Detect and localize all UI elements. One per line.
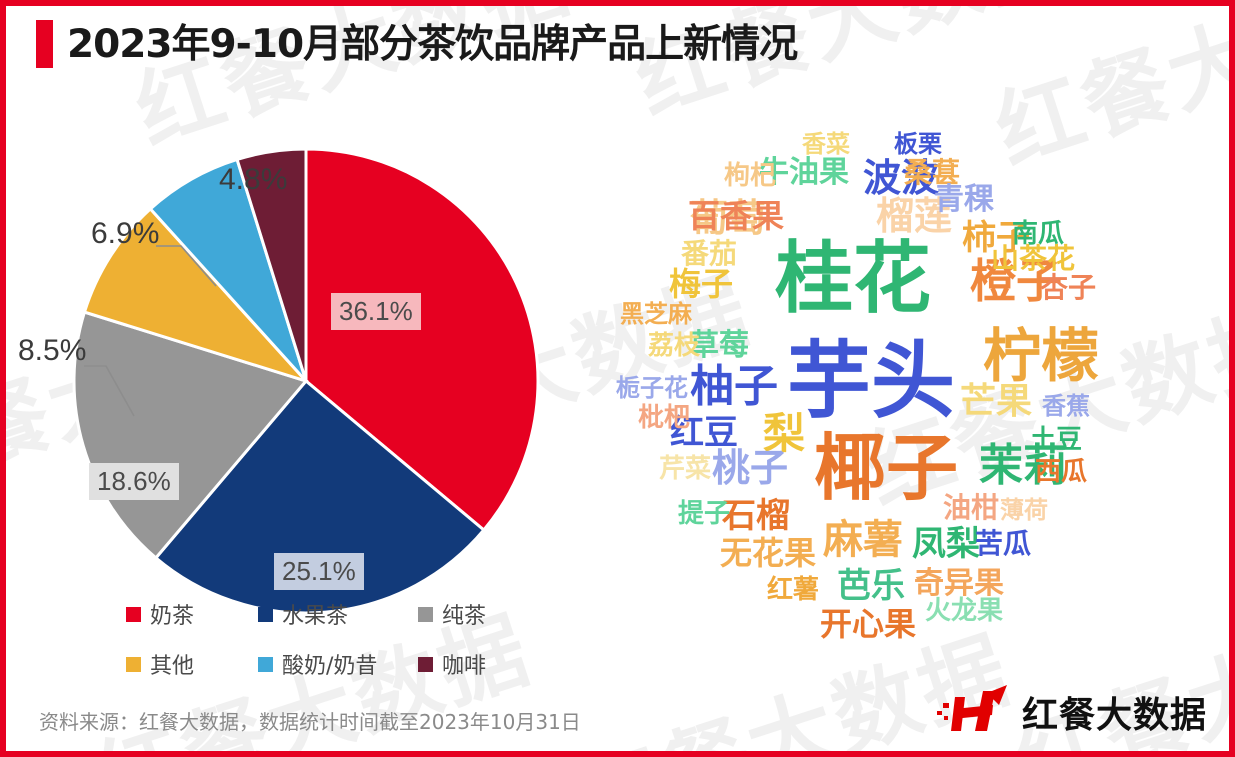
legend-label: 水果茶 — [282, 598, 348, 630]
word-cloud-term[interactable]: 凤梨 — [912, 527, 980, 561]
legend-swatch — [126, 657, 141, 672]
title-bar: 2023年9-10月部分茶饮品牌产品上新情况 — [36, 20, 797, 68]
word-cloud-term[interactable]: 柠檬 — [983, 327, 1099, 385]
pie-callout-label: 8.5% — [18, 334, 86, 368]
brand-logo: 红餐大数据 — [937, 683, 1207, 741]
word-cloud-term[interactable]: 油柑 — [943, 494, 999, 522]
legend-label: 咖啡 — [442, 648, 486, 680]
legend-item[interactable]: 奶茶 — [126, 598, 258, 630]
word-cloud-term[interactable]: 麻薯 — [823, 520, 903, 560]
legend-item[interactable]: 纯茶 — [418, 598, 546, 630]
word-cloud-term[interactable]: 香菜 — [802, 132, 850, 156]
source-note: 资料来源：红餐大数据，数据统计时间截至2023年10月31日 — [39, 706, 581, 735]
word-cloud-term[interactable]: 红薯 — [767, 577, 819, 603]
legend-item[interactable]: 水果茶 — [258, 598, 418, 630]
pie-chart-panel: 36.1%25.1%18.6%4.8%6.9%8.5% — [6, 81, 606, 681]
legend-swatch — [418, 607, 433, 622]
page-title: 2023年9-10月部分茶饮品牌产品上新情况 — [67, 25, 797, 64]
legend-swatch — [126, 607, 141, 622]
pie-chart-svg — [6, 81, 606, 681]
word-cloud-term[interactable]: 芋头 — [787, 339, 955, 423]
word-cloud-term[interactable]: 黑芝麻 — [620, 302, 692, 326]
word-cloud-term[interactable]: 荔枝 — [648, 333, 700, 359]
word-cloud-term[interactable]: 香蕉 — [1042, 394, 1090, 418]
word-cloud-term[interactable]: 梅子 — [669, 268, 733, 300]
pie-slice-label: 18.6% — [89, 463, 179, 500]
word-cloud-term[interactable]: 火龙果 — [925, 598, 1003, 624]
logo-mark-icon — [937, 683, 1015, 741]
logo-text: 红餐大数据 — [1022, 686, 1207, 738]
legend-label: 纯茶 — [442, 598, 486, 630]
legend-swatch — [418, 657, 433, 672]
legend-swatch — [258, 657, 273, 672]
word-cloud-term[interactable]: 芭乐 — [837, 569, 905, 603]
infographic-frame: 红餐大数据 红餐大数据 红餐大数据 红餐大数据 红餐大数据 红餐大数据 红餐大数… — [0, 0, 1235, 757]
legend-label: 奶茶 — [150, 598, 194, 630]
legend-swatch — [258, 607, 273, 622]
word-cloud-term[interactable]: 芹菜 — [659, 456, 711, 482]
legend-item[interactable]: 酸奶/奶昔 — [258, 648, 418, 680]
word-cloud-term[interactable]: 开心果 — [820, 608, 916, 640]
word-cloud-term[interactable]: 桃子 — [712, 449, 788, 487]
legend-label: 酸奶/奶昔 — [282, 648, 377, 680]
pie-slice-label: 36.1% — [331, 293, 421, 330]
legend-item[interactable]: 咖啡 — [418, 648, 546, 680]
legend-item[interactable]: 其他 — [126, 648, 258, 680]
word-cloud-term[interactable]: 板栗 — [894, 132, 942, 156]
word-cloud-term[interactable]: 无花果 — [720, 537, 816, 569]
word-cloud-term[interactable]: 苦瓜 — [975, 530, 1031, 558]
word-cloud-term[interactable]: 枇杷 — [638, 405, 690, 431]
pie-callout-label: 6.9% — [91, 217, 159, 251]
word-cloud-term[interactable]: 南瓜 — [1012, 221, 1064, 247]
word-cloud-term[interactable]: 番茄 — [681, 240, 737, 268]
word-cloud-term[interactable]: 青稞 — [934, 185, 994, 215]
word-cloud-term[interactable]: 提子 — [678, 501, 730, 527]
pie-legend: 奶茶水果茶纯茶其他酸奶/奶昔咖啡 — [126, 598, 546, 680]
word-cloud-term[interactable]: 石榴 — [722, 499, 790, 533]
word-cloud-term[interactable]: 西瓜 — [1035, 459, 1087, 485]
pie-slice-label: 25.1% — [274, 553, 364, 590]
word-cloud-term[interactable]: 枸杞 — [724, 163, 776, 189]
word-cloud-term[interactable]: 杏子 — [1040, 274, 1096, 302]
word-cloud-term[interactable]: 柚子 — [690, 365, 778, 409]
word-cloud-term[interactable]: 土豆 — [1030, 427, 1082, 453]
word-cloud: 桂花芋头椰子柠檬橙子柚子茉莉麻薯梨桃子红豆石榴凤梨芭乐芒果葡萄榴莲百香果无花果开… — [596, 116, 1226, 636]
word-cloud-term[interactable]: 奇异果 — [914, 569, 1004, 599]
word-cloud-term[interactable]: 山茶花 — [991, 245, 1075, 273]
title-accent-bar — [36, 20, 53, 68]
word-cloud-term[interactable]: 芒果 — [960, 384, 1032, 420]
word-cloud-term[interactable]: 栀子花 — [616, 376, 688, 400]
word-cloud-term[interactable]: 桂花 — [775, 240, 931, 318]
word-cloud-term[interactable]: 薄荷 — [1000, 498, 1048, 522]
word-cloud-term[interactable]: 椰子 — [814, 432, 958, 504]
legend-label: 其他 — [150, 648, 194, 680]
word-cloud-term[interactable]: 百香果 — [688, 200, 784, 232]
pie-callout-label: 4.8% — [219, 163, 287, 197]
